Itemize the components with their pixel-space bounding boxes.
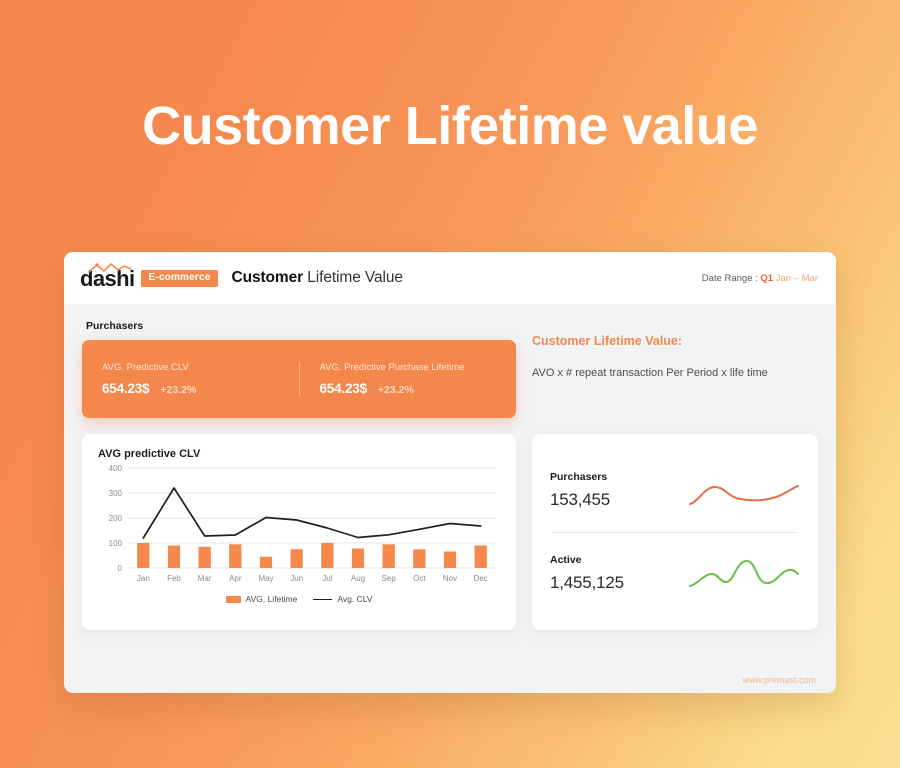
kpi-label: AVG. Predictive CLV	[102, 362, 279, 375]
ecommerce-badge: E-commerce	[141, 270, 217, 287]
footer-url[interactable]: www.premast.com	[742, 675, 816, 685]
stat-texts: Active 1,455,125	[550, 554, 624, 593]
dashboard-card: dashi E-commerce Customer Lifetime Value…	[64, 252, 836, 693]
svg-text:Nov: Nov	[443, 574, 457, 583]
kpi-value-row: 654.23$ +23.2%	[102, 381, 279, 396]
svg-text:400: 400	[109, 464, 123, 473]
svg-text:200: 200	[109, 514, 123, 523]
svg-text:Oct: Oct	[413, 574, 426, 583]
stat-name: Purchasers	[550, 471, 610, 483]
svg-text:Jan: Jan	[137, 574, 150, 583]
dashboard-header: dashi E-commerce Customer Lifetime Value…	[64, 252, 836, 304]
top-row: Purchasers AVG. Predictive CLV 654.23$ +…	[82, 320, 818, 418]
svg-text:Feb: Feb	[167, 574, 181, 583]
squiggle-line-icon	[88, 263, 132, 275]
kpi-cell-predictive-clv: AVG. Predictive CLV 654.23$ +23.2%	[82, 362, 299, 396]
svg-text:0: 0	[118, 564, 123, 573]
legend-swatch-line-icon	[313, 599, 332, 600]
svg-text:100: 100	[109, 539, 123, 548]
stats-panel: Purchasers 153,455 Active 1,455,125	[532, 434, 818, 630]
chart-x-axis-labels: JanFebMarAprMayJunJulAugSepOctNovDec	[137, 574, 488, 583]
hero-banner: Customer Lifetime value	[0, 0, 900, 252]
chart-line-avg-clv	[143, 488, 480, 538]
chart-title: AVG predictive CLV	[98, 448, 500, 460]
kpi-card: AVG. Predictive CLV 654.23$ +23.2% AVG. …	[82, 340, 516, 418]
svg-text:Jun: Jun	[290, 574, 303, 583]
description-body: AVO x # repeat transaction Per Period x …	[532, 366, 774, 382]
svg-text:Aug: Aug	[351, 574, 365, 583]
svg-text:Dec: Dec	[474, 574, 488, 583]
description-title: Customer Lifetime Value:	[532, 334, 818, 348]
chart-bars	[137, 543, 487, 568]
stat-texts: Purchasers 153,455	[550, 471, 610, 510]
kpi-delta: +23.2%	[378, 384, 414, 396]
svg-text:Mar: Mar	[198, 574, 212, 583]
date-range-display[interactable]: Date Range : Q1 Jan – Mar	[702, 273, 818, 284]
legend-swatch-bar-icon	[226, 596, 241, 603]
dashboard-title: Customer Lifetime Value	[232, 269, 403, 287]
bottom-row: AVG predictive CLV 0100200300400 JanFebM…	[82, 434, 818, 630]
kpi-value-row: 654.23$ +23.2%	[320, 381, 497, 396]
legend-item-avg-lifetime: AVG. Lifetime	[226, 594, 298, 604]
date-range-months: Jan – Mar	[776, 273, 818, 284]
chart-y-axis-labels: 0100200300400	[109, 464, 123, 573]
legend-label: AVG. Lifetime	[246, 594, 298, 604]
chart-legend: AVG. Lifetime Avg. CLV	[98, 594, 500, 604]
logo-mark: dashi	[80, 266, 134, 290]
legend-label: Avg. CLV	[337, 594, 372, 604]
kpi-value: 654.23$	[102, 381, 149, 396]
date-range-quarter: Q1	[760, 273, 773, 284]
svg-text:300: 300	[109, 489, 123, 498]
page-title: Customer Lifetime value	[142, 99, 758, 153]
date-range-label: Date Range :	[702, 273, 758, 284]
chart-gridlines	[128, 468, 496, 568]
dashboard-title-rest: Lifetime Value	[303, 269, 403, 286]
stat-value: 153,455	[550, 490, 610, 510]
clv-combo-chart: 0100200300400 JanFebMarAprMayJunJulAugSe…	[98, 462, 500, 588]
legend-item-avg-clv: Avg. CLV	[313, 594, 372, 604]
svg-text:Sep: Sep	[382, 574, 397, 583]
sparkline-active	[688, 552, 800, 594]
kpi-value: 654.23$	[320, 381, 367, 396]
svg-text:Apr: Apr	[229, 574, 242, 583]
kpi-label: AVG. Predictive Purchase Lifetime	[320, 362, 497, 375]
stat-block-active: Active 1,455,125	[550, 533, 800, 615]
stat-block-purchasers: Purchasers 153,455	[550, 450, 800, 532]
stat-value: 1,455,125	[550, 573, 624, 593]
dashboard-title-bold: Customer	[232, 269, 304, 286]
dashboard-body: Purchasers AVG. Predictive CLV 654.23$ +…	[64, 304, 836, 630]
sparkline-purchasers	[688, 470, 800, 512]
brand-logo[interactable]: dashi E-commerce	[80, 266, 218, 290]
stat-name: Active	[550, 554, 624, 566]
clv-chart-panel: AVG predictive CLV 0100200300400 JanFebM…	[82, 434, 516, 630]
kpi-delta: +23.2%	[160, 384, 196, 396]
purchasers-label: Purchasers	[86, 320, 516, 332]
svg-text:May: May	[258, 574, 273, 583]
purchasers-column: Purchasers AVG. Predictive CLV 654.23$ +…	[82, 320, 516, 418]
kpi-cell-purchase-lifetime: AVG. Predictive Purchase Lifetime 654.23…	[299, 362, 517, 396]
svg-text:Jul: Jul	[322, 574, 332, 583]
description-column: Customer Lifetime Value: AVO x # repeat …	[532, 320, 818, 418]
